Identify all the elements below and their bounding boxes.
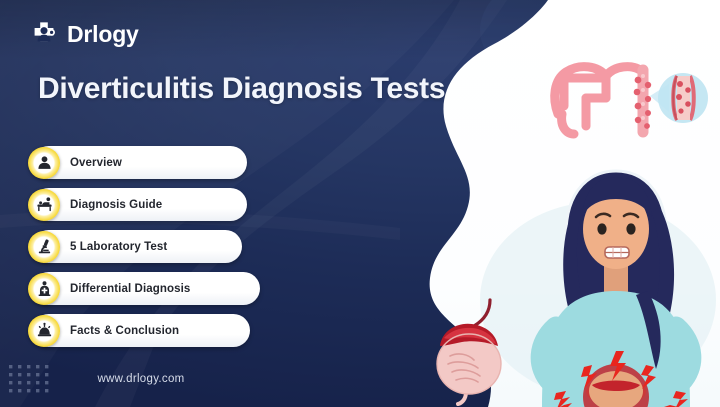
medical-cross-person-icon: [30, 20, 58, 48]
menu-item-label: Differential Diagnosis: [70, 283, 190, 295]
woman-abdominal-pain-illustration: [512, 155, 720, 407]
alarm-bell-icon: [28, 315, 60, 347]
colon-diverticula-illustration: [536, 54, 710, 142]
menu-item-laboratory-test[interactable]: 5 Laboratory Test: [32, 230, 242, 263]
menu-item-label: 5 Laboratory Test: [70, 241, 167, 253]
menu-item-overview[interactable]: Overview: [32, 146, 247, 179]
topic-menu: Overview Diagnosis Guide: [32, 146, 260, 347]
page-title: Diverticulitis Diagnosis Tests: [38, 72, 508, 106]
menu-item-differential-diagnosis[interactable]: Differential Diagnosis: [32, 272, 260, 305]
menu-item-diagnosis-guide[interactable]: Diagnosis Guide: [32, 188, 247, 221]
menu-item-label: Facts & Conclusion: [70, 325, 179, 337]
poster-canvas: Drlogy Diverticulitis Diagnosis Tests Ov…: [0, 0, 720, 407]
menu-item-facts-conclusion[interactable]: Facts & Conclusion: [32, 314, 250, 347]
brand-logo[interactable]: Drlogy: [30, 20, 139, 48]
menu-item-label: Overview: [70, 157, 122, 169]
hospital-bed-icon: [28, 189, 60, 221]
website-url[interactable]: www.drlogy.com: [36, 373, 246, 385]
person-user-icon: [28, 147, 60, 179]
brand-name: Drlogy: [67, 23, 139, 46]
menu-item-label: Diagnosis Guide: [70, 199, 162, 211]
balance-scale-icon: [28, 273, 60, 305]
microscope-icon: [28, 231, 60, 263]
